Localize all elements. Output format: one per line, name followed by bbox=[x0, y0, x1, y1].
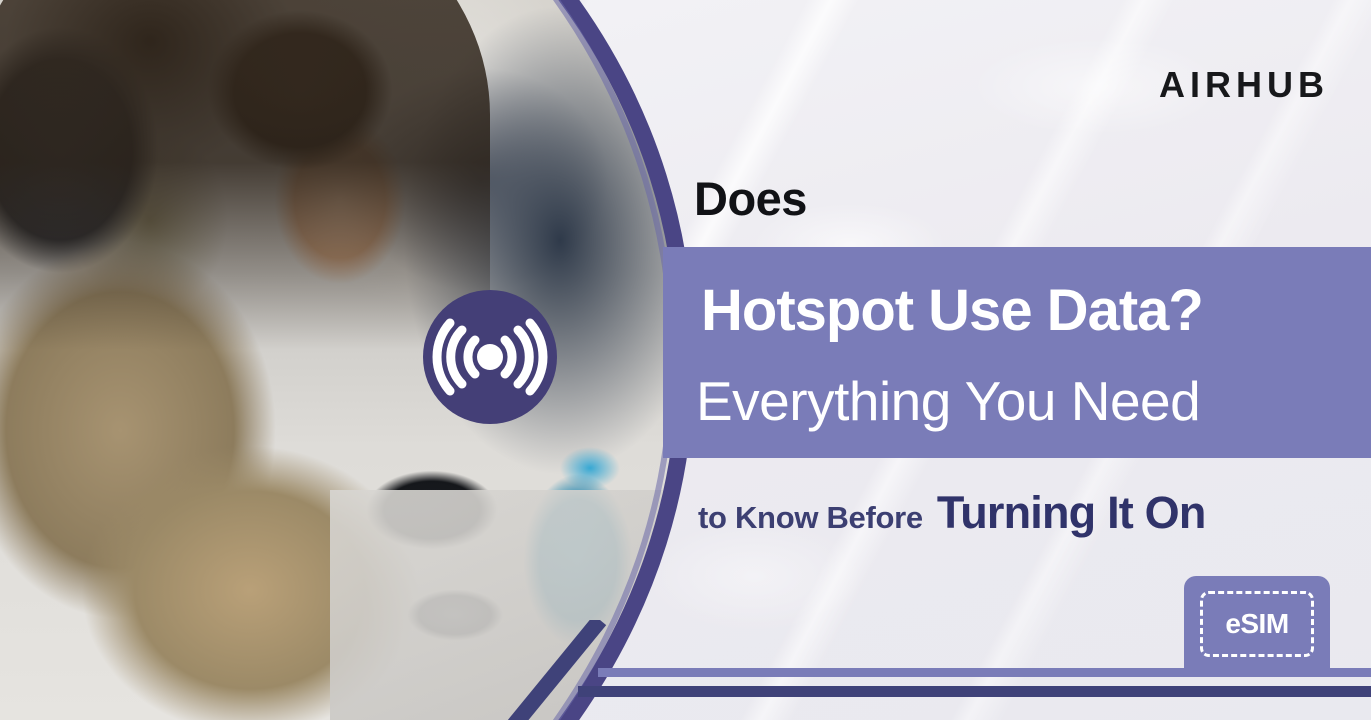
esim-badge: eSIM bbox=[1184, 576, 1330, 672]
wifi-signal-badge bbox=[423, 290, 557, 424]
headline-line-3-small: to Know Before bbox=[698, 500, 923, 536]
headline-line-3: to Know Before Turning It On bbox=[698, 487, 1206, 539]
marketing-banner: AIRHUB Does Hotspot Use Data? Everything… bbox=[0, 0, 1371, 720]
esim-badge-label: eSIM bbox=[1225, 608, 1288, 640]
hero-photo bbox=[0, 0, 682, 720]
headline-kicker: Does bbox=[694, 171, 807, 226]
esim-badge-frame: eSIM bbox=[1200, 591, 1314, 657]
wifi-signal-icon bbox=[423, 290, 557, 424]
dark-navy-rule bbox=[578, 686, 1371, 697]
hero-photo-image bbox=[0, 0, 682, 720]
headline-line-3-big: Turning It On bbox=[937, 487, 1206, 539]
headline-line-2: Everything You Need bbox=[696, 374, 1200, 429]
headline-line-1: Hotspot Use Data? bbox=[701, 282, 1203, 340]
airhub-logo: AIRHUB bbox=[1159, 64, 1329, 106]
station-arch bbox=[0, 0, 490, 350]
